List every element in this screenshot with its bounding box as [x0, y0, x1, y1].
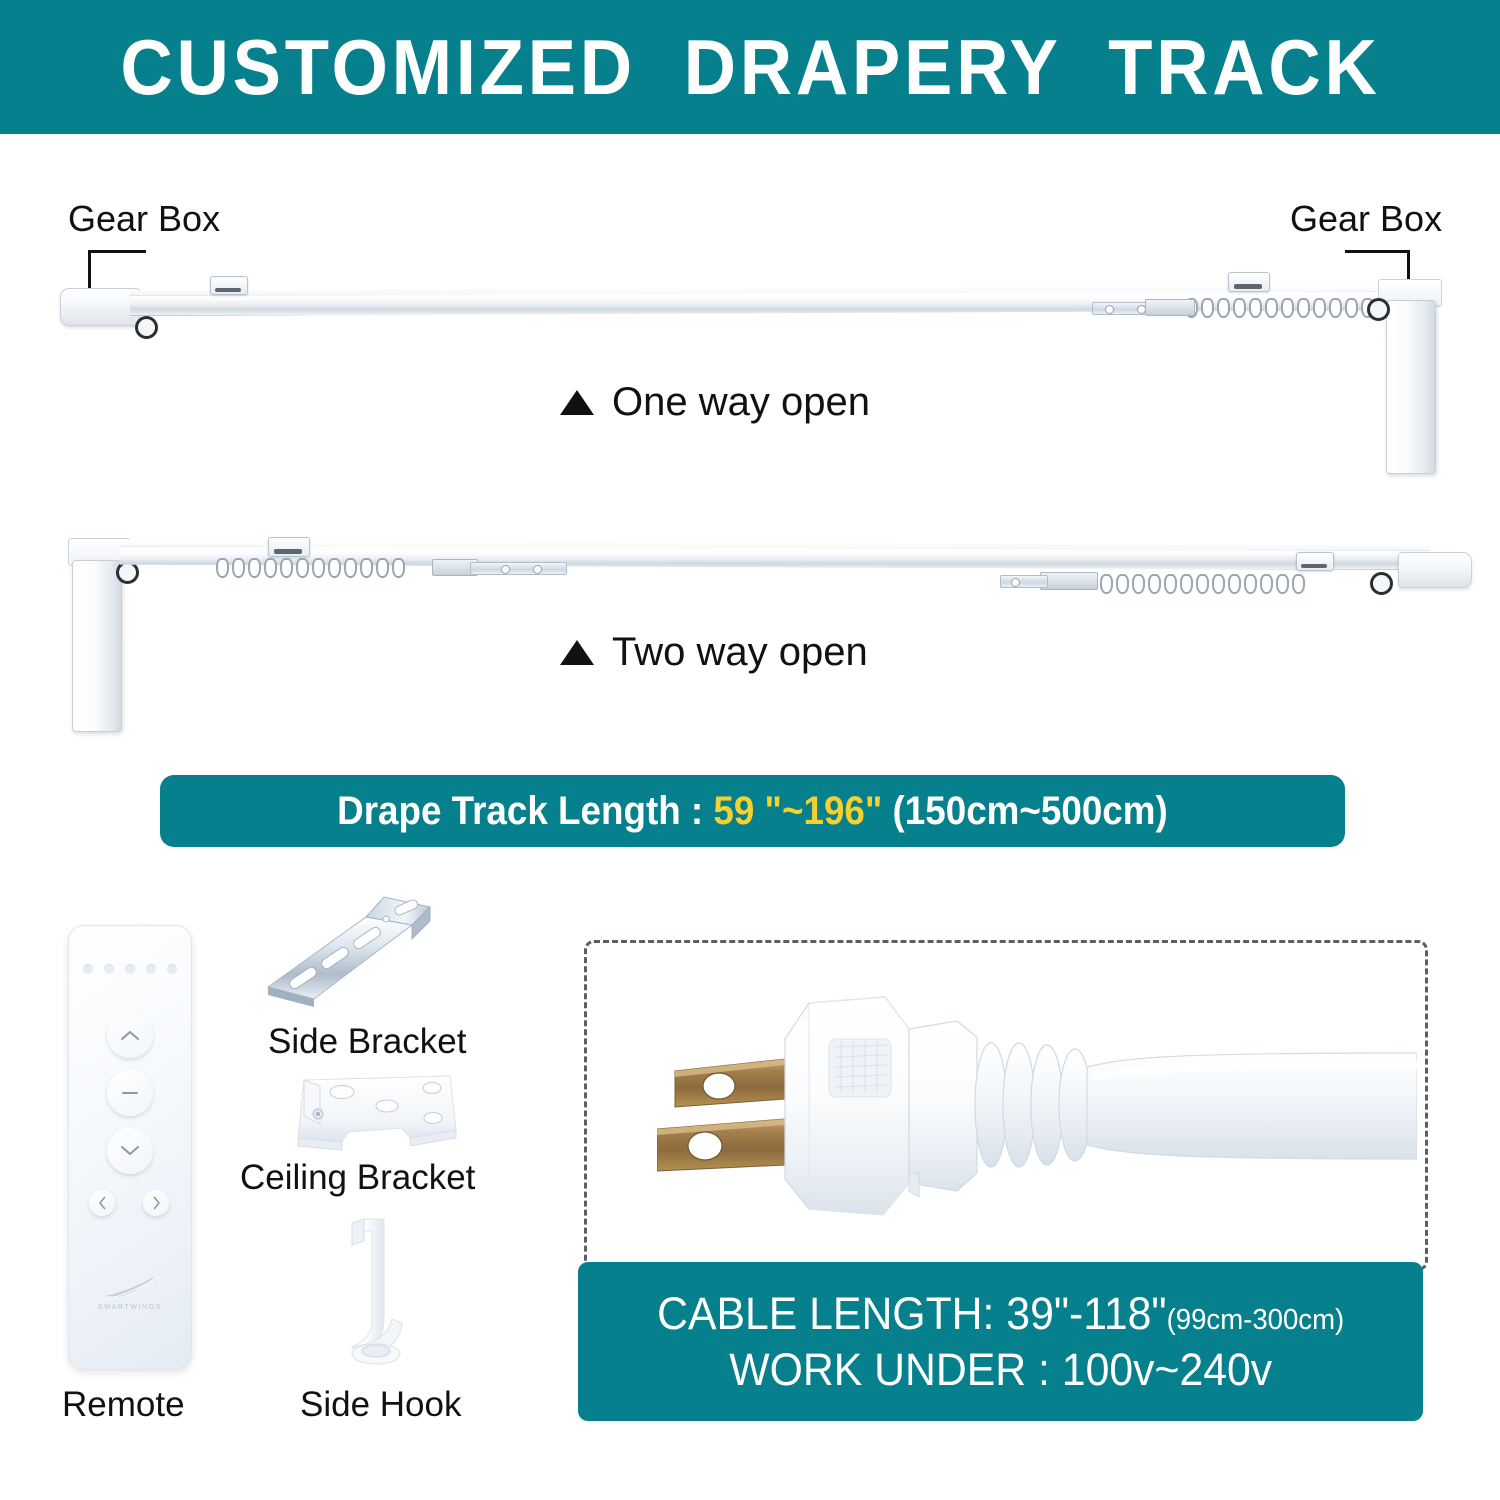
led-indicator [167, 964, 177, 974]
carrier-ring [1297, 298, 1310, 318]
master-slide-left [210, 276, 248, 295]
label-two-way-open: Two way open [560, 630, 868, 675]
carrier-rings [1185, 298, 1393, 318]
carrier-ring [360, 558, 373, 578]
master-slide-right [1228, 272, 1270, 292]
minus-icon [120, 1090, 140, 1096]
support-strip-left-2 [470, 562, 567, 575]
carrier-ring [1148, 574, 1161, 594]
carrier-ring [1132, 574, 1145, 594]
pulley-wheel-right-2 [1370, 572, 1393, 595]
carrier-ring [1100, 574, 1113, 594]
cable-length-metric: (99cm-300cm) [1166, 1304, 1344, 1336]
track-length-prefix: Drape Track Length : [337, 789, 713, 833]
carrier-ring [1233, 298, 1246, 318]
carrier-ring [296, 558, 309, 578]
carrier-ring [1345, 298, 1358, 318]
strip-hole [501, 565, 510, 574]
pulley-wheel-left [135, 316, 158, 339]
gear-box-left-body-2 [72, 560, 122, 732]
part-label-side-bracket: Side Bracket [268, 1022, 466, 1062]
chevron-left-icon [98, 1196, 107, 1210]
carrier-ring [1201, 298, 1214, 318]
remote-brand-label: SMARTWINGS [69, 1304, 191, 1311]
one-way-open-text: One way open [612, 380, 870, 425]
power-spec-box: CABLE LENGTH: 39"-118"(99cm-300cm) WORK … [578, 1262, 1423, 1421]
two-way-open-text: Two way open [612, 630, 868, 675]
smartwings-wing-logo-icon [103, 1274, 157, 1300]
chevron-right-icon [152, 1196, 161, 1210]
cable-length-line: CABLE LENGTH: 39"-118"(99cm-300cm) [657, 1288, 1344, 1340]
carrier-rings-left-2 [216, 558, 408, 578]
carrier-ring [1249, 298, 1262, 318]
remote-stop-button[interactable] [107, 1070, 153, 1116]
side-bracket-image [262, 895, 482, 1023]
chevron-down-icon [120, 1145, 140, 1157]
callout-label-gear-box-right: Gear Box [1290, 198, 1442, 240]
carrier-ring [1116, 574, 1129, 594]
carrier-ring [1180, 574, 1193, 594]
carrier-ring [1329, 298, 1342, 318]
carrier-ring [1292, 574, 1305, 594]
track-length-banner: Drape Track Length : 59 "~196" (150cm~50… [160, 775, 1345, 847]
end-cap-left [60, 288, 140, 326]
strip-hole [1011, 578, 1020, 587]
ceiling-bracket-image [290, 1068, 470, 1160]
carrier-ring [1244, 574, 1257, 594]
carrier-ring [1265, 298, 1278, 318]
header-banner: CUSTOMIZED DRAPERY TRACK [0, 0, 1500, 134]
carrier-ring [1217, 298, 1230, 318]
track-length-text: Drape Track Length : 59 "~196" (150cm~50… [337, 789, 1168, 834]
carrier-rings-right-2 [1100, 574, 1308, 594]
carrier-ring [328, 558, 341, 578]
power-plug-panel [584, 940, 1428, 1271]
master-slide-left-2 [268, 537, 310, 557]
label-one-way-open: One way open [560, 380, 870, 425]
strip-hole [1105, 305, 1114, 314]
carrier-ring [1260, 574, 1273, 594]
side-hook-image [330, 1215, 430, 1375]
part-label-side-hook: Side Hook [300, 1385, 461, 1425]
led-indicator [83, 964, 93, 974]
master-slide-right-2 [1296, 552, 1334, 571]
remote-down-button[interactable] [107, 1128, 153, 1174]
strip-hole [533, 565, 542, 574]
carrier-ring [1276, 574, 1289, 594]
support-strip-right-2 [1000, 575, 1048, 588]
led-indicator [104, 964, 114, 974]
carrier-ring [392, 558, 405, 578]
carrier-ring [376, 558, 389, 578]
carrier-ring [216, 558, 229, 578]
led-indicator [146, 964, 156, 974]
carrier-ring [1164, 574, 1177, 594]
track-length-highlight: 59 "~196" [713, 789, 882, 833]
page-title: CUSTOMIZED DRAPERY TRACK [120, 28, 1380, 106]
part-label-remote: Remote [62, 1385, 185, 1425]
carrier-ring [1281, 298, 1294, 318]
part-label-ceiling-bracket: Ceiling Bracket [240, 1158, 475, 1198]
gear-box-right-body [1386, 300, 1436, 474]
end-cap-right-2 [1398, 552, 1472, 588]
carrier-ring [232, 558, 245, 578]
carrier-ring [1228, 574, 1241, 594]
power-plug-image [657, 983, 1417, 1233]
work-under-line: WORK UNDER : 100v~240v [729, 1344, 1272, 1396]
chevron-up-icon [120, 1029, 140, 1041]
led-indicator [125, 964, 135, 974]
carrier-ring [264, 558, 277, 578]
callout-label-gear-box-left: Gear Box [68, 198, 220, 240]
remote-up-button[interactable] [107, 1012, 153, 1058]
triangle-marker-icon [560, 390, 594, 415]
triangle-marker-icon [560, 640, 594, 665]
pulley-wheel-right [1367, 298, 1390, 321]
remote-next-channel-button[interactable] [143, 1190, 169, 1216]
strip-block-right-2 [1040, 572, 1098, 590]
carrier-ring [1212, 574, 1225, 594]
remote-control[interactable]: SMARTWINGS [68, 925, 192, 1370]
product-infographic: CUSTOMIZED DRAPERY TRACK Gear Box Gear B… [0, 0, 1500, 1500]
remote-prev-channel-button[interactable] [89, 1190, 115, 1216]
cable-length-label: CABLE LENGTH: 39"-118" [657, 1288, 1167, 1339]
strip-block [1145, 299, 1195, 316]
carrier-ring [248, 558, 261, 578]
led-indicator-row [83, 964, 177, 974]
carrier-ring [344, 558, 357, 578]
carrier-ring [1196, 574, 1209, 594]
carrier-ring [280, 558, 293, 578]
carrier-ring [312, 558, 325, 578]
carrier-ring [1313, 298, 1326, 318]
track-length-suffix: (150cm~500cm) [882, 789, 1167, 833]
